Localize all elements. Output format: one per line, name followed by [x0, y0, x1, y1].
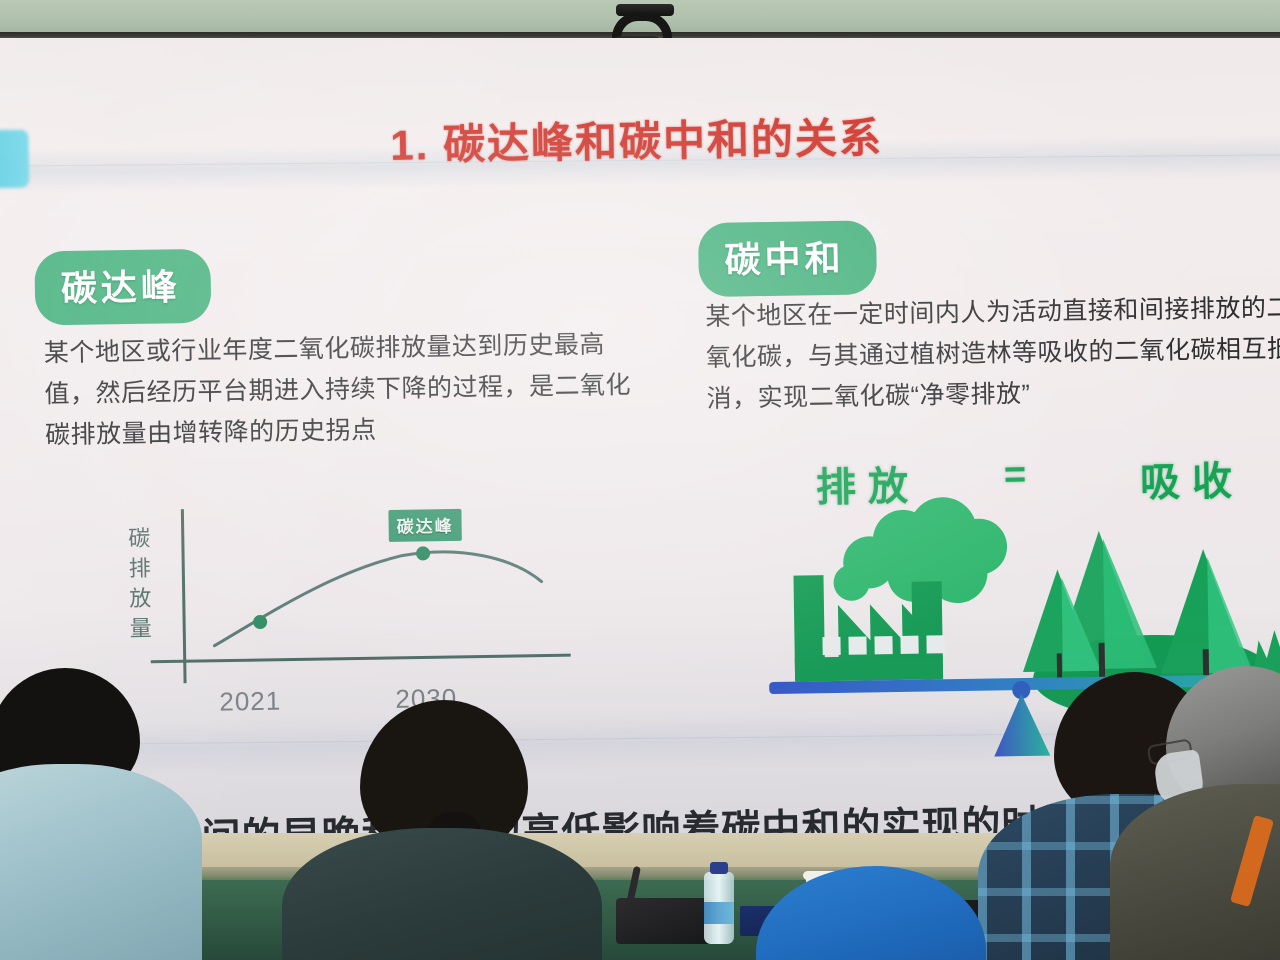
- left-panel-body-text: 某个地区或行业年度二氧化碳排放量达到历史最高值，然后经历平台期进入持续下降的过程…: [44, 324, 646, 456]
- chart-tick-2021: 2021: [219, 686, 281, 718]
- badge-carbon-neutral: 碳中和: [698, 220, 877, 297]
- bottle-cap: [710, 862, 728, 874]
- carbon-peak-chart: 碳排放量 碳达峰 2021 2030: [120, 495, 594, 732]
- chart-x-axis: [151, 655, 571, 662]
- photo-of-presentation-screen: 1. 碳达峰和碳中和的关系 碳达峰 某个地区或行业年度二氧化碳排放量达到历史最高…: [0, 0, 1280, 960]
- chart-y-axis: [182, 509, 185, 683]
- factory-icon: [793, 573, 943, 681]
- slide-title: 1. 碳达峰和碳中和的关系: [0, 98, 1277, 179]
- chart-point-2030: [416, 546, 430, 560]
- conference-speaker-device: [616, 898, 712, 944]
- chart-curve: [213, 550, 542, 645]
- chart-peak-annotation: 碳达峰: [388, 509, 461, 542]
- person-torso: [0, 764, 202, 960]
- balance-fulcrum: [993, 694, 1050, 757]
- badge-carbon-peak: 碳达峰: [34, 249, 211, 326]
- bottle-label: [704, 902, 734, 924]
- person-torso: [282, 828, 602, 960]
- water-bottle: [704, 872, 734, 944]
- right-panel-body-text: 某个地区在一定时间内人为活动直接和间接排放的二氧化碳，与其通过植树造林等吸收的二…: [705, 287, 1280, 420]
- chart-svg: [120, 495, 594, 732]
- equals-sign: =: [1004, 454, 1027, 497]
